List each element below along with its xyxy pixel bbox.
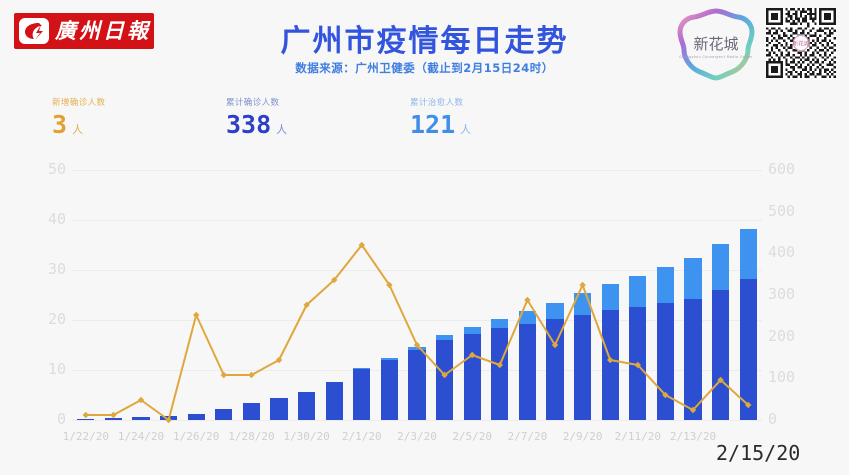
line-marker [83,412,89,418]
y-tick-right: 300 [768,287,795,302]
stat-unit: 人 [276,121,287,137]
y-tick-left: 0 [0,412,66,427]
svg-text:新花城: 新花城 [792,40,810,48]
line-series [72,170,762,420]
line-marker [579,282,585,288]
y-tick-right: 0 [768,412,777,427]
x-tick: 1/26/20 [173,430,219,443]
y-tick-left: 10 [0,362,66,377]
x-tick: 2/1/20 [342,430,382,443]
x-tick: 2/13/20 [670,430,716,443]
x-tick: 1/28/20 [228,430,274,443]
stat-label: 累计确诊人数 [226,99,287,108]
stat-unit: 人 [460,121,471,137]
current-date-label: 2/15/20 [716,441,800,465]
y-tick-left: 30 [0,262,66,277]
x-tick: 2/7/20 [508,430,548,443]
stat-new-confirmed: 新增确诊人数 3 人 [52,99,105,137]
svg-text:新花城: 新花城 [693,35,738,53]
line-marker [193,312,199,318]
x-tick: 1/24/20 [118,430,164,443]
svg-text:Guangzhou Convergent Media Cen: Guangzhou Convergent Media Center [679,55,753,59]
stat-label: 累计治愈人数 [410,99,471,108]
stat-value: 121 [410,112,455,137]
line-marker [221,372,227,378]
stat-unit: 人 [72,121,83,137]
y-tick-right: 500 [768,204,795,219]
y-tick-right: 200 [768,329,795,344]
x-tick: 2/3/20 [397,430,437,443]
y-tick-left: 20 [0,312,66,327]
line-marker [607,357,613,363]
x-tick: 2/11/20 [615,430,661,443]
epidemic-trend-chart: 01020304050 0100200300400500600 1/22/201… [0,155,849,475]
gridline [72,420,762,421]
y-tick-right: 400 [768,245,795,260]
stat-total-cured: 累计治愈人数 121 人 [410,99,471,137]
y-tick-left: 40 [0,212,66,227]
stat-value: 338 [226,112,271,137]
stat-label: 新增确诊人数 [52,99,105,108]
stat-value: 3 [52,112,67,137]
y-tick-right: 600 [768,162,795,177]
plot-area [72,170,762,420]
y-tick-right: 100 [768,370,795,385]
x-tick: 1/30/20 [283,430,329,443]
line-marker [497,362,503,368]
qr-code-icon[interactable]: 新花城 [766,8,836,78]
stat-total-confirmed: 累计确诊人数 338 人 [226,99,287,137]
x-tick: 2/9/20 [563,430,603,443]
x-tick: 1/22/20 [63,430,109,443]
xinhuacheng-badge: 新花城 Guangzhou Convergent Media Center [672,6,760,82]
poster-root: 廣州日報 广州市疫情每日走势 数据来源：广州卫健委（截止到2月15日24时） 新… [0,0,849,475]
x-tick: 2/5/20 [452,430,492,443]
new-confirmed-line [86,245,748,420]
y-tick-left: 50 [0,162,66,177]
